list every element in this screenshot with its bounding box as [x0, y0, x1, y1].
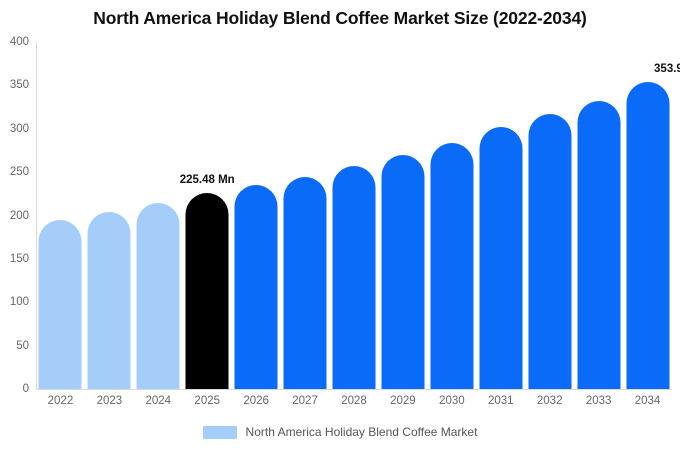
bar-slot — [134, 42, 183, 389]
chart-title: North America Holiday Blend Coffee Marke… — [0, 8, 680, 29]
y-axis-tick-label: 300 — [10, 123, 29, 135]
y-axis-tick-label: 100 — [10, 296, 29, 308]
bars-layer: 225.48 Mn353.91 Mn — [36, 42, 672, 389]
bar-2029[interactable] — [381, 155, 424, 389]
x-axis-tick-label-2023: 2023 — [97, 395, 123, 407]
bar-2030[interactable] — [430, 143, 473, 389]
bar-2023[interactable] — [88, 212, 131, 389]
bar-slot — [36, 42, 85, 389]
bar-2032[interactable] — [528, 114, 571, 389]
x-axis-tick-label-2024: 2024 — [146, 395, 172, 407]
legend-label: North America Holiday Blend Coffee Marke… — [246, 425, 478, 439]
plot-area: 050100150200250300350400 225.48 Mn353.91… — [36, 42, 672, 389]
bar-2034[interactable]: 353.91 Mn — [626, 82, 669, 389]
y-axis-tick-label: 350 — [10, 79, 29, 91]
x-axis-tick-label-2032: 2032 — [537, 395, 563, 407]
x-axis-tick-label-2029: 2029 — [390, 395, 416, 407]
bar-slot — [281, 42, 330, 389]
bar-slot — [330, 42, 379, 389]
bar-slot — [525, 42, 574, 389]
bar-slot — [232, 42, 281, 389]
y-axis-tick-label: 0 — [23, 383, 29, 395]
bar-2027[interactable] — [284, 177, 327, 389]
bar-2025[interactable]: 225.48 Mn — [186, 193, 229, 389]
bar-slot: 353.91 Mn — [623, 42, 672, 389]
bar-2024[interactable] — [137, 203, 180, 389]
bar-2031[interactable] — [479, 127, 522, 389]
bar-slot — [574, 42, 623, 389]
bar-2026[interactable] — [235, 185, 278, 389]
bar-slot: 225.48 Mn — [183, 42, 232, 389]
bar-slot — [476, 42, 525, 389]
chart-legend: North America Holiday Blend Coffee Marke… — [0, 425, 680, 439]
bar-2033[interactable] — [577, 101, 620, 389]
x-axis-line — [36, 389, 672, 390]
x-axis-tick-label-2026: 2026 — [243, 395, 269, 407]
legend-swatch-icon — [203, 426, 237, 439]
x-axis-tick-label-2030: 2030 — [439, 395, 465, 407]
x-axis-tick-label-2025: 2025 — [194, 395, 220, 407]
y-axis-tick-label: 400 — [10, 36, 29, 48]
x-axis-tick-label-2033: 2033 — [586, 395, 612, 407]
y-axis-tick-label: 150 — [10, 253, 29, 265]
x-axis-tick-label-2031: 2031 — [488, 395, 514, 407]
bar-value-label-2025: 225.48 Mn — [180, 174, 235, 186]
y-axis-tick-label: 250 — [10, 166, 29, 178]
bar-value-label-2034: 353.91 Mn — [654, 63, 680, 75]
x-axis-tick-label-2022: 2022 — [48, 395, 74, 407]
market-size-bar-chart: North America Holiday Blend Coffee Marke… — [0, 0, 680, 450]
y-axis-tick-label: 50 — [16, 340, 29, 352]
legend-item[interactable]: North America Holiday Blend Coffee Marke… — [203, 425, 478, 439]
y-axis-tick-label: 200 — [10, 210, 29, 222]
bar-slot — [427, 42, 476, 389]
bar-slot — [378, 42, 427, 389]
bar-2022[interactable] — [39, 220, 82, 389]
x-axis-tick-label-2027: 2027 — [292, 395, 318, 407]
bar-2028[interactable] — [332, 166, 375, 389]
bar-slot — [85, 42, 134, 389]
x-axis-ticks: 2022202320242025202620272028202920302031… — [36, 395, 672, 413]
x-axis-tick-label-2028: 2028 — [341, 395, 367, 407]
x-axis-tick-label-2034: 2034 — [635, 395, 661, 407]
